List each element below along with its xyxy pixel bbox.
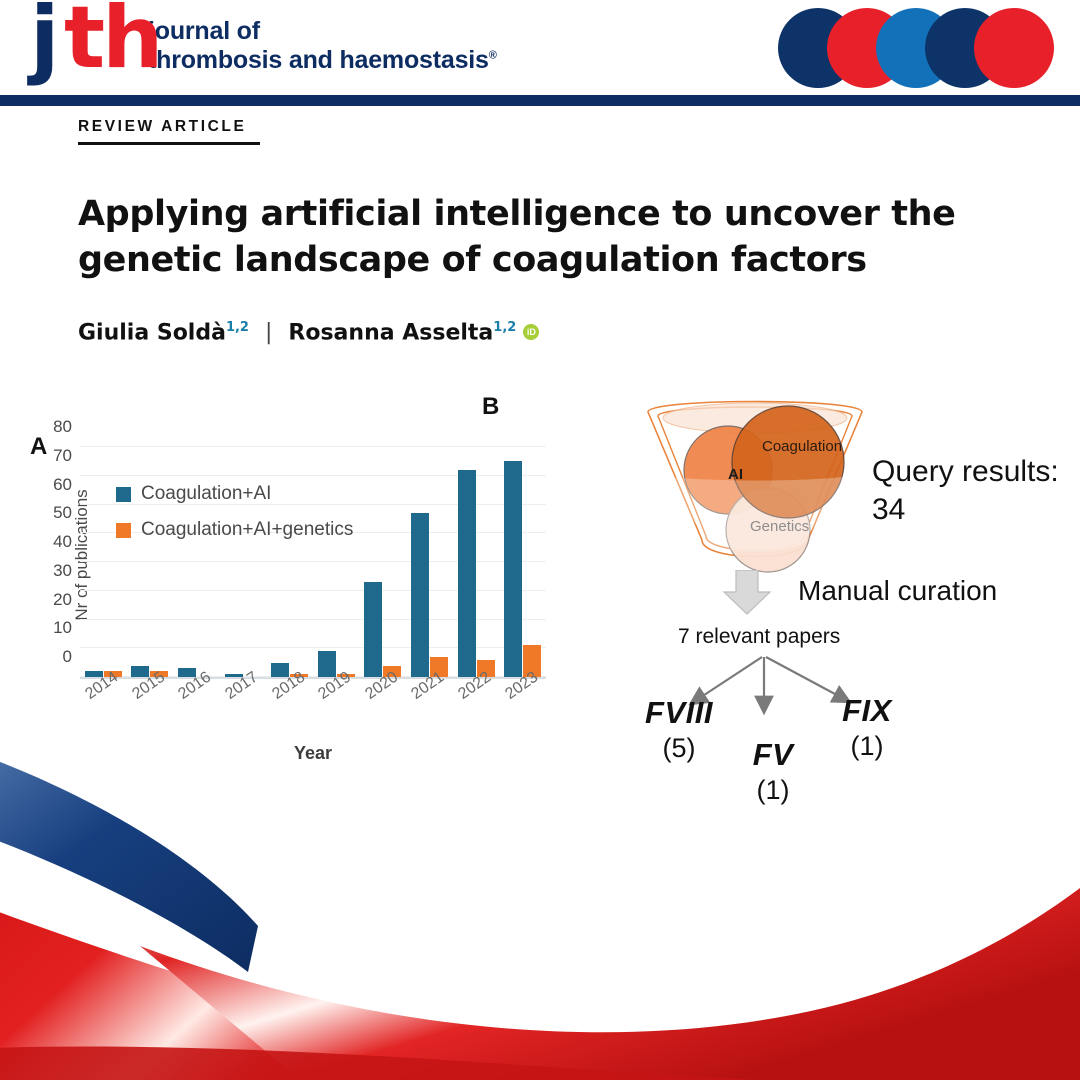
journal-wordmark-line2-text: thrombosis and haemostasis: [148, 46, 489, 74]
bar-group-2020: [360, 447, 407, 677]
registered-mark: ®: [489, 50, 497, 62]
chart-legend: Coagulation+AI Coagulation+AI+genetics: [116, 483, 353, 555]
bar-group-2021: [406, 447, 453, 677]
legend-swatch-icon: [116, 487, 131, 502]
y-axis-tick: 70: [53, 446, 72, 466]
page-root: j th journal of thrombosis and haemostas…: [0, 0, 1080, 1080]
chart-bars: [80, 447, 546, 677]
author-2: Rosanna Asselta1,2: [288, 320, 516, 345]
bar-group-2016: [173, 447, 220, 677]
x-axis-ticks: 2014201520162017201820192020202120222023: [80, 685, 546, 745]
author-separator: |: [265, 320, 272, 345]
orcid-icon[interactable]: [523, 324, 539, 340]
y-axis-tick: 20: [53, 590, 72, 610]
venn-funnel-svg: [640, 390, 870, 590]
bar-group-2015: [127, 447, 174, 677]
page-title: Applying artificial intelligence to unco…: [78, 192, 958, 283]
bar-group-2019: [313, 447, 360, 677]
y-axis-tick: 30: [53, 561, 72, 581]
article-type: REVIEW ARTICLE: [78, 118, 260, 145]
author-1-affiliation: 1,2: [226, 320, 249, 335]
y-axis-tick: 10: [53, 618, 72, 638]
logo-dots: [778, 8, 1058, 88]
y-axis-tick: 0: [63, 647, 72, 667]
logo-letters-th: th: [64, 0, 160, 78]
x-tick-cell: 2021: [406, 685, 453, 745]
venn-funnel-diagram: AI Coagulation Genetics: [640, 390, 870, 590]
bar-coagulation-ai-2019[interactable]: [318, 651, 336, 677]
x-tick-cell: 2016: [173, 685, 220, 745]
bar-group-2023: [499, 447, 546, 677]
article-type-label: REVIEW ARTICLE: [78, 118, 260, 136]
query-results-block: Query results: 34: [872, 453, 1072, 530]
panel-b-label: B: [482, 393, 499, 421]
bar-group-2017: [220, 447, 267, 677]
author-list: Giulia Soldà1,2 | Rosanna Asselta1,2: [78, 320, 539, 345]
article-type-underline: [78, 142, 260, 145]
x-tick-cell: 2015: [127, 685, 174, 745]
bar-group-2022: [453, 447, 500, 677]
logo-letter-j: j: [30, 0, 56, 78]
bar-coagulation-ai-2022[interactable]: [458, 470, 476, 677]
chart-plot-area: 01020304050607080: [80, 447, 546, 679]
cover-decoration-svg: [0, 750, 1080, 1080]
journal-wordmark-line1: journal of: [148, 17, 497, 46]
x-tick-cell: 2022: [453, 685, 500, 745]
legend-label: Coagulation+AI: [141, 483, 271, 505]
author-1-name: Giulia Soldà: [78, 320, 226, 345]
x-tick-cell: 2014: [80, 685, 127, 745]
funnel-glass-overlay: [660, 476, 850, 552]
y-axis-tick: 40: [53, 532, 72, 552]
y-axis-tick: 50: [53, 503, 72, 523]
query-results-label: Query results:: [872, 453, 1072, 491]
legend-swatch-icon: [116, 523, 131, 538]
author-2-affiliation: 1,2: [493, 320, 516, 335]
x-tick-cell: 2020: [360, 685, 407, 745]
x-tick-cell: 2019: [313, 685, 360, 745]
legend-item-coagulation-ai-genetics: Coagulation+AI+genetics: [116, 519, 353, 541]
panel-a-chart: A Nr of publications 01020304050607080 2…: [20, 385, 580, 785]
cover-decoration: [0, 750, 1080, 1080]
journal-wordmark: journal of thrombosis and haemostasis®: [148, 17, 497, 75]
y-axis-tick: 60: [53, 475, 72, 495]
factor-name: FVIII: [624, 695, 734, 731]
bar-coagulation-ai-2018[interactable]: [271, 663, 289, 677]
legend-label: Coagulation+AI+genetics: [141, 519, 353, 541]
x-tick-cell: 2018: [266, 685, 313, 745]
journal-logo: j th journal of thrombosis and haemostas…: [28, 6, 497, 86]
x-tick-cell: 2023: [499, 685, 546, 745]
bar-coagulation-ai-2021[interactable]: [411, 513, 429, 677]
bar-group-2018: [266, 447, 313, 677]
manual-curation-arrow-icon: [720, 570, 780, 616]
bar-coagulation-ai-2020[interactable]: [364, 582, 382, 677]
manual-curation-label: Manual curation: [798, 575, 997, 607]
bar-coagulation-ai-2023[interactable]: [504, 461, 522, 677]
jth-logomark: j th: [28, 6, 136, 86]
x-tick-cell: 2017: [220, 685, 267, 745]
author-2-name: Rosanna Asselta: [288, 320, 493, 345]
y-axis-tick: 80: [53, 417, 72, 437]
factor-name: FIX: [822, 693, 912, 729]
relevant-papers-label: 7 relevant papers: [678, 625, 840, 649]
logo-dot-5: [974, 8, 1054, 88]
panel-a-label: A: [30, 433, 47, 461]
bar-group-2014: [80, 447, 127, 677]
journal-header: j th journal of thrombosis and haemostas…: [0, 0, 1080, 96]
legend-item-coagulation-ai: Coagulation+AI: [116, 483, 353, 505]
author-1: Giulia Soldà1,2: [78, 320, 249, 345]
journal-wordmark-line2: thrombosis and haemostasis®: [148, 46, 497, 75]
query-results-value: 34: [872, 491, 1072, 529]
header-divider: [0, 95, 1080, 106]
